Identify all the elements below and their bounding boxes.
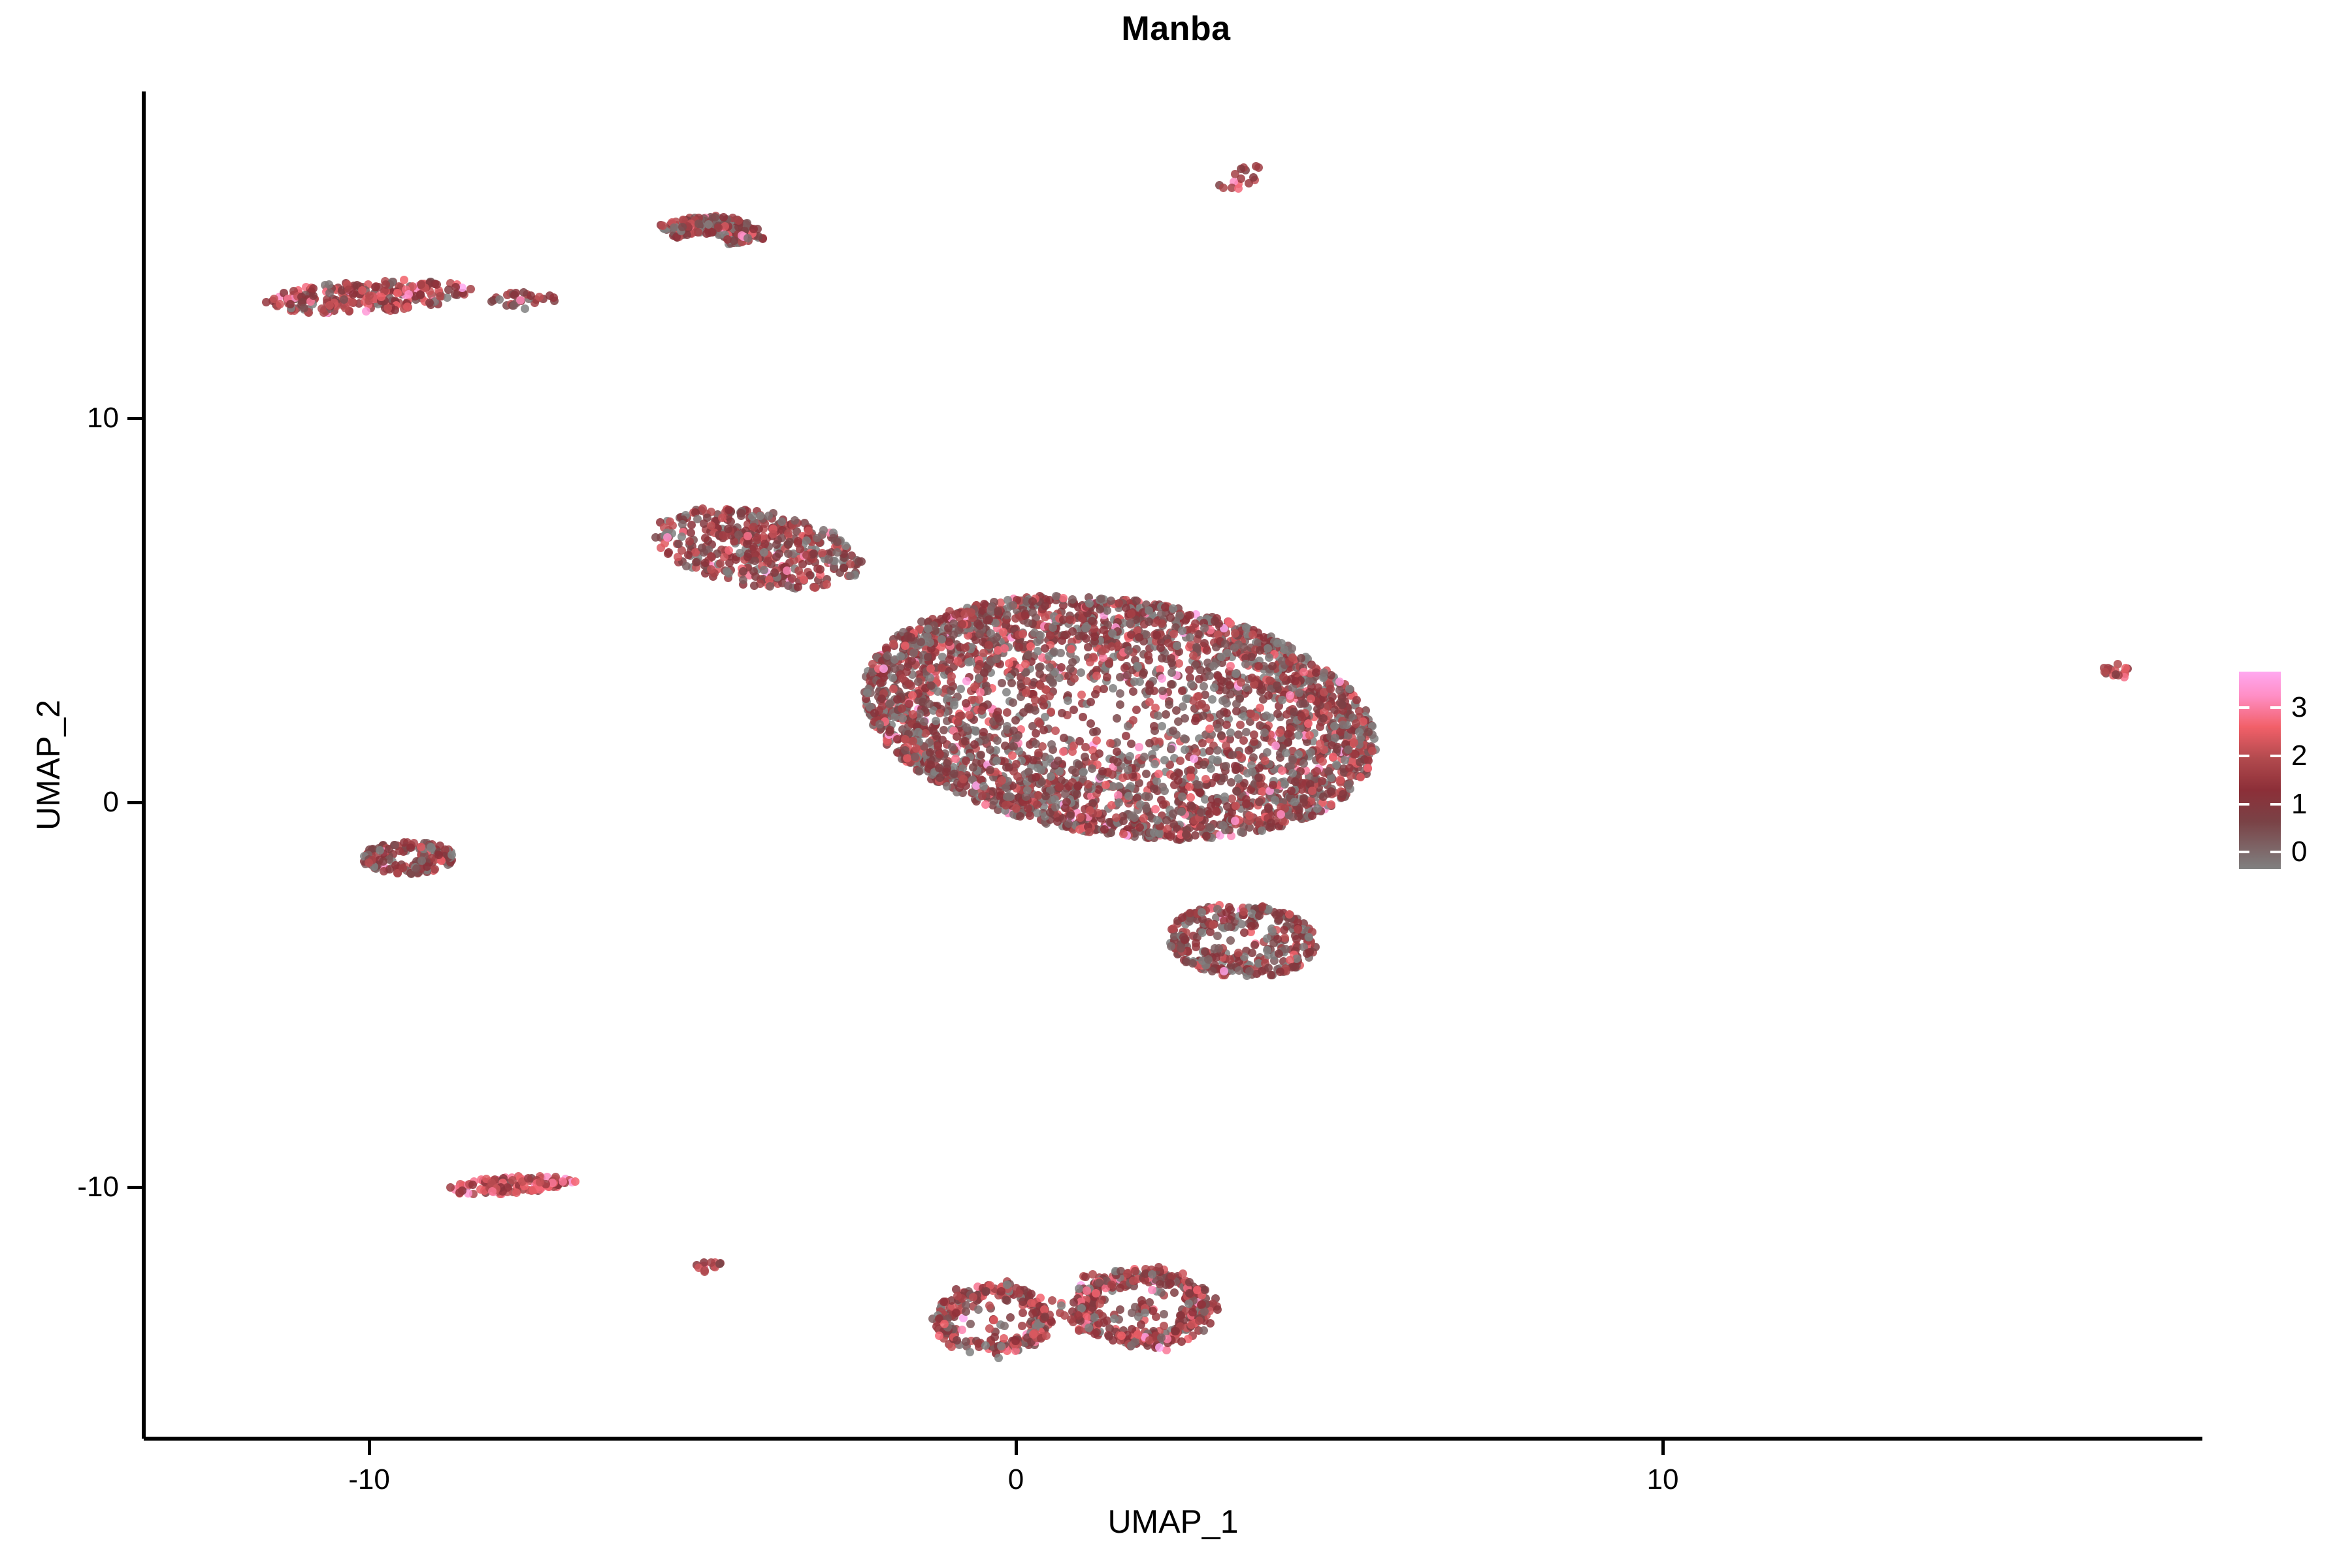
data-point (958, 620, 966, 629)
data-point (403, 302, 412, 311)
data-point (818, 549, 826, 557)
data-point (707, 552, 715, 561)
data-point (1331, 734, 1339, 742)
data-point (990, 1316, 998, 1324)
data-point (1165, 700, 1173, 709)
data-point (1198, 739, 1207, 747)
data-point (1164, 639, 1173, 647)
data-point (1032, 729, 1040, 738)
data-point (707, 1258, 715, 1267)
data-point (1028, 608, 1037, 617)
data-point (1001, 742, 1009, 750)
data-point (1115, 798, 1123, 807)
data-point (975, 621, 984, 630)
data-point (510, 301, 518, 310)
data-point (1205, 747, 1214, 755)
data-point (1091, 690, 1100, 698)
data-point (1280, 926, 1288, 934)
data-point (1305, 677, 1314, 685)
data-point (1045, 663, 1054, 672)
data-point (300, 304, 308, 312)
data-point (663, 533, 672, 542)
data-point (756, 512, 764, 520)
data-point (750, 581, 759, 590)
data-point (1092, 736, 1101, 745)
data-point (833, 538, 841, 546)
data-point (723, 567, 731, 576)
data-point (309, 284, 318, 293)
data-point (1216, 710, 1224, 719)
data-point (1092, 727, 1101, 736)
data-point (770, 568, 779, 577)
data-point (1279, 673, 1288, 681)
data-point (1096, 605, 1104, 613)
data-point (1222, 762, 1230, 770)
data-point (1174, 776, 1183, 785)
data-point (1247, 710, 1255, 718)
data-point (1086, 719, 1095, 728)
data-point (1297, 654, 1305, 662)
data-point (1299, 668, 1308, 676)
data-point (988, 787, 997, 796)
data-point (1075, 737, 1084, 745)
data-point (1098, 647, 1107, 655)
data-point (1313, 767, 1321, 776)
data-point (719, 213, 728, 221)
data-point (1098, 767, 1107, 776)
data-point (702, 229, 711, 238)
data-point (1116, 673, 1124, 681)
data-point (1079, 768, 1088, 776)
data-point (998, 679, 1006, 687)
data-point (1144, 651, 1152, 660)
data-point (953, 1292, 962, 1300)
data-point (318, 304, 326, 313)
data-point (1177, 808, 1186, 816)
data-point (952, 1309, 960, 1317)
data-point (1066, 664, 1075, 673)
data-point (1011, 716, 1020, 725)
data-point (1100, 626, 1108, 634)
data-point (1070, 674, 1079, 683)
data-point (739, 567, 747, 576)
data-point (1186, 766, 1195, 774)
page-title: Manba (0, 9, 2352, 48)
data-point (836, 568, 844, 577)
data-point (896, 652, 905, 661)
data-point (711, 213, 719, 221)
data-point (948, 743, 956, 751)
data-point (1019, 630, 1027, 638)
data-point (1288, 644, 1296, 653)
data-point (707, 521, 715, 530)
data-point (1299, 798, 1308, 807)
data-point (451, 283, 460, 291)
data-point (1047, 1318, 1056, 1326)
data-point (962, 677, 971, 685)
data-point (1036, 1294, 1045, 1302)
data-point (983, 687, 992, 695)
data-point (1273, 710, 1282, 718)
data-point (1051, 761, 1059, 770)
data-point (495, 295, 504, 304)
data-point (1211, 617, 1219, 625)
data-point (700, 1266, 709, 1275)
data-point (1250, 730, 1258, 739)
data-point (1200, 682, 1208, 691)
data-point (1224, 923, 1232, 931)
data-point (1154, 711, 1162, 720)
data-point (1124, 792, 1133, 800)
data-point (1105, 659, 1113, 668)
data-point (1167, 942, 1175, 951)
data-point (969, 763, 977, 772)
data-point (1012, 760, 1021, 768)
data-point (1245, 967, 1254, 975)
data-point (743, 234, 752, 242)
data-point (1009, 698, 1017, 707)
data-point (659, 221, 667, 230)
data-point (1058, 709, 1066, 717)
data-point (1000, 1322, 1009, 1330)
plot-panel (144, 91, 2202, 1439)
data-point (1213, 756, 1222, 764)
data-point (1092, 672, 1101, 680)
data-point (1189, 651, 1198, 660)
data-point (914, 728, 923, 736)
data-point (1248, 768, 1256, 776)
data-point (766, 582, 774, 591)
data-point (1135, 743, 1143, 751)
data-point (1232, 670, 1240, 678)
data-point (1003, 792, 1011, 801)
data-point (1085, 828, 1094, 836)
data-point (1350, 738, 1358, 747)
data-point (1033, 800, 1041, 809)
data-point (1194, 692, 1203, 700)
data-point (1108, 629, 1117, 638)
data-point (1187, 680, 1196, 689)
data-point (1041, 644, 1049, 653)
data-point (1206, 823, 1215, 832)
data-point (1178, 792, 1186, 801)
data-point (1240, 928, 1249, 937)
data-point (783, 566, 791, 575)
data-point (785, 538, 794, 546)
data-point (1319, 792, 1328, 801)
data-point (1179, 933, 1188, 941)
data-point (1140, 753, 1149, 761)
data-point (901, 735, 909, 743)
data-point (687, 529, 695, 537)
data-point (1344, 781, 1352, 789)
data-point (1100, 825, 1109, 834)
data-point (1327, 787, 1335, 796)
data-point (1003, 708, 1011, 717)
data-point (950, 698, 958, 706)
data-point (1286, 691, 1294, 700)
data-point (549, 293, 558, 302)
data-point (416, 291, 425, 299)
data-point (1122, 732, 1130, 740)
data-point (1185, 666, 1194, 674)
data-point (666, 517, 674, 526)
data-point (876, 679, 885, 687)
data-point (1316, 723, 1324, 731)
data-point (1339, 790, 1347, 798)
data-point (1339, 721, 1347, 729)
data-point (809, 549, 818, 558)
data-point (1172, 706, 1181, 715)
data-point (823, 580, 831, 589)
data-point (1002, 688, 1011, 696)
data-point (1232, 700, 1241, 708)
data-point (521, 304, 529, 313)
data-point (1011, 1337, 1020, 1345)
data-point (1248, 949, 1256, 957)
data-point (1041, 792, 1050, 800)
data-point (743, 532, 752, 540)
data-point (1208, 967, 1217, 975)
data-point (994, 1354, 1003, 1362)
data-point (1182, 694, 1190, 703)
data-point (964, 658, 973, 666)
data-point (966, 1348, 974, 1356)
data-point (1356, 758, 1364, 766)
data-point (1034, 764, 1042, 772)
data-point (1032, 740, 1040, 748)
data-point (1290, 708, 1298, 716)
data-point (898, 704, 906, 713)
data-point (1213, 905, 1222, 913)
data-point (1126, 752, 1134, 760)
data-point (1245, 746, 1253, 755)
data-point (926, 664, 935, 673)
data-point (1113, 714, 1121, 723)
data-point (1190, 755, 1198, 763)
data-point (1226, 728, 1235, 737)
data-point (1219, 184, 1228, 192)
data-point (1169, 809, 1177, 818)
data-point (1000, 644, 1009, 653)
data-point (1150, 785, 1158, 793)
data-point (1176, 757, 1184, 765)
data-point (1026, 642, 1035, 651)
data-point (1081, 753, 1089, 761)
data-point (1139, 814, 1148, 823)
umap-feature-plot: Manba -10010 -10010 UMAP_1 UMAP_2 0123 (0, 0, 2352, 1568)
data-point (1237, 174, 1245, 183)
data-point (1290, 798, 1299, 806)
data-point (466, 285, 475, 293)
data-point (1213, 798, 1222, 806)
data-point (1241, 660, 1250, 668)
data-point (1278, 696, 1286, 704)
data-point (1275, 728, 1284, 737)
data-point (1356, 773, 1365, 781)
data-point (1237, 920, 1246, 928)
data-point (1056, 649, 1065, 657)
data-point (377, 293, 385, 301)
data-point (1024, 703, 1033, 711)
data-point (725, 506, 733, 514)
data-point (433, 280, 441, 289)
data-point (1126, 619, 1134, 628)
data-point (431, 865, 439, 874)
data-point (362, 307, 370, 316)
data-point (905, 700, 913, 708)
data-point (1186, 611, 1194, 619)
data-point (1213, 932, 1222, 940)
data-point (1059, 747, 1068, 756)
data-point (417, 843, 425, 851)
data-point (1082, 634, 1090, 643)
data-point (784, 581, 792, 590)
data-point (1100, 685, 1108, 693)
data-point (1116, 700, 1124, 709)
data-point (1175, 659, 1183, 668)
data-point (1188, 802, 1196, 811)
data-point (749, 523, 758, 531)
data-point (425, 299, 434, 307)
data-point (1058, 636, 1066, 645)
data-point (1058, 814, 1067, 823)
data-point (1045, 692, 1054, 700)
data-point (939, 726, 948, 734)
data-point (1230, 644, 1239, 652)
data-point (1129, 687, 1137, 696)
data-point (444, 286, 453, 294)
data-point (1132, 706, 1141, 714)
data-point (1109, 782, 1117, 791)
data-point (1077, 691, 1086, 699)
data-point (1032, 773, 1040, 781)
data-point (965, 711, 973, 719)
data-point (1249, 753, 1258, 762)
data-point (962, 699, 970, 708)
data-point (1263, 748, 1271, 757)
data-point (994, 607, 1002, 615)
data-point (1186, 793, 1195, 802)
data-point (325, 280, 333, 289)
data-point (527, 291, 535, 300)
data-point (1007, 679, 1016, 687)
data-point (977, 751, 985, 759)
data-point (927, 681, 936, 690)
data-point (524, 1174, 532, 1183)
data-point (404, 290, 413, 299)
data-point (1256, 646, 1264, 655)
data-point (448, 851, 456, 859)
data-point (907, 633, 915, 642)
data-point (1295, 689, 1303, 697)
data-point (1174, 717, 1183, 726)
data-point (981, 800, 990, 809)
data-point (1213, 746, 1222, 755)
data-point (1006, 1313, 1015, 1322)
data-point (987, 629, 995, 638)
data-point (1173, 642, 1181, 650)
data-point (1364, 728, 1373, 736)
data-point (1319, 714, 1328, 723)
data-point (926, 748, 934, 757)
data-point (1231, 817, 1239, 825)
data-point (1115, 599, 1123, 608)
data-point (1212, 807, 1220, 815)
data-point (857, 557, 866, 566)
data-point (1186, 909, 1194, 917)
data-point (1168, 659, 1176, 667)
data-point (1186, 773, 1195, 781)
data-point (1051, 727, 1060, 735)
data-point (1079, 713, 1087, 721)
data-point (1041, 602, 1049, 610)
data-point (1308, 811, 1316, 820)
data-point (1036, 662, 1045, 671)
data-point (1330, 722, 1339, 730)
data-point (769, 530, 777, 538)
data-point (1226, 955, 1234, 964)
data-point (1198, 908, 1206, 917)
data-point (924, 625, 932, 633)
data-point (1335, 686, 1344, 694)
data-point (1103, 673, 1111, 681)
data-point (1009, 742, 1018, 751)
data-point (1232, 766, 1240, 774)
data-point (1291, 677, 1299, 685)
data-point (889, 640, 898, 648)
data-point (1208, 695, 1217, 704)
data-point (682, 562, 691, 570)
data-point (794, 537, 802, 546)
data-point (953, 1336, 961, 1345)
data-point (974, 1305, 983, 1314)
data-point (1318, 757, 1327, 766)
data-point (382, 280, 390, 289)
data-point (1192, 643, 1201, 651)
data-point (1160, 756, 1169, 764)
data-point (956, 685, 965, 693)
data-point (1255, 798, 1264, 806)
data-point (1288, 653, 1297, 662)
data-point (1027, 1290, 1036, 1298)
data-point (446, 1183, 455, 1192)
data-point (1268, 662, 1277, 670)
data-point (571, 1177, 580, 1186)
data-point (985, 1301, 994, 1310)
data-point (962, 757, 970, 765)
data-point (1060, 734, 1068, 742)
data-point (1075, 825, 1084, 834)
data-point (1234, 184, 1243, 193)
data-point (1034, 717, 1043, 726)
data-point (325, 301, 334, 310)
data-point (1256, 704, 1264, 712)
data-point (1345, 685, 1354, 693)
data-point (1207, 764, 1215, 773)
data-point (1214, 672, 1222, 681)
data-point (907, 657, 916, 665)
data-point (1052, 592, 1060, 600)
data-point (1203, 646, 1211, 655)
data-point (1011, 668, 1019, 676)
data-point (1073, 790, 1081, 798)
data-point (1299, 759, 1308, 768)
data-point (1284, 730, 1292, 738)
data-point (1192, 943, 1200, 951)
data-point (1258, 903, 1266, 911)
data-point (1116, 689, 1124, 698)
